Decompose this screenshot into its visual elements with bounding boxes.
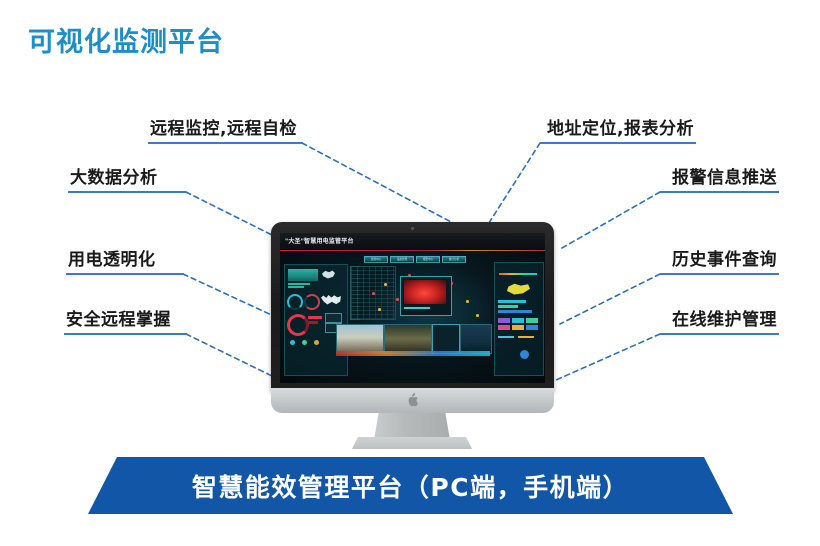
callout-left-2-rule: [68, 191, 186, 193]
right-tag-4: [498, 325, 510, 330]
callout-left-2[interactable]: 大数据分析: [68, 167, 186, 193]
map-node-1: [372, 292, 375, 295]
status-dot-amber: [314, 340, 319, 345]
right-tag-1: [498, 318, 510, 323]
callout-left-1[interactable]: 远程监控,远程自检: [148, 118, 303, 144]
right-kpi-bar-2: [498, 305, 518, 308]
donut-chart-1: [287, 294, 303, 310]
right-tag-6: [526, 325, 538, 330]
status-dot-green: [302, 340, 307, 345]
red-indicator-bar: [308, 316, 322, 319]
callout-left-3-rule: [66, 273, 184, 275]
callout-left-1-label: 远程监控,远程自检: [148, 118, 303, 142]
right-gauge-icon: [520, 350, 529, 359]
donut-chart-2: [304, 294, 320, 310]
camera-feed-4[interactable]: [460, 324, 492, 354]
callout-right-1[interactable]: 地址定位,报表分析: [540, 118, 696, 144]
thumb-tile-1: [325, 313, 342, 323]
right-tag-5: [512, 325, 524, 330]
red-indicator-bar-2: [308, 321, 318, 324]
callout-right-3[interactable]: 历史事件查询: [660, 249, 779, 275]
dashboard-header: "大圣"智慧用电监管平台: [280, 233, 545, 250]
monitor-stand-base: [352, 437, 472, 449]
callout-right-3-label: 历史事件查询: [660, 249, 779, 273]
callout-right-1-label: 地址定位,报表分析: [540, 118, 696, 142]
teal-chart-line-1: [288, 283, 310, 285]
callout-left-4[interactable]: 安全远程掌握: [64, 309, 187, 335]
map-node-10: [476, 314, 479, 317]
right-line-chart-trace: [499, 273, 537, 275]
callout-right-2-label: 报警信息推送: [660, 167, 779, 191]
callout-right-2-rule: [660, 191, 779, 193]
monitor-stand-neck: [374, 413, 450, 440]
alert-popup-text-line: [404, 307, 430, 309]
callout-left-3[interactable]: 用电透明化: [66, 249, 184, 275]
page-title: 可视化监测平台: [28, 20, 224, 59]
apple-logo: [407, 393, 419, 407]
wire-left-4: [186, 334, 272, 376]
callout-right-2[interactable]: 报警信息推送: [660, 167, 779, 193]
callout-right-4-rule: [660, 333, 779, 335]
callout-right-3-rule: [660, 273, 779, 275]
right-kpi-bar-1: [498, 300, 526, 303]
callout-right-1-rule: [540, 142, 696, 144]
map-node-8: [466, 300, 469, 303]
wire-right-4: [556, 334, 660, 380]
wire-right-2: [562, 192, 660, 248]
wire-left-3: [183, 274, 278, 318]
right-tag-2: [512, 318, 524, 323]
camera-feed-1[interactable]: [336, 324, 384, 354]
monitor-chin: [271, 388, 554, 413]
callout-right-4[interactable]: 在线维护管理: [660, 309, 779, 335]
teal-chart-line-2: [288, 286, 304, 288]
teal-chart-block: [288, 269, 318, 281]
callout-left-3-label: 用电透明化: [66, 249, 184, 273]
alert-heatmap-graphic: [404, 280, 446, 304]
donut-chart-3: [287, 314, 309, 336]
right-legend-2: [518, 336, 534, 338]
monitor-bezel: "大圣"智慧用电监管平台 监测中心 设备管理 报警中心 统计分析: [271, 222, 554, 392]
webcam-icon: [411, 227, 414, 230]
dashboard-body: 监测中心 设备管理 报警中心 统计分析: [280, 252, 545, 383]
map-node-3: [396, 298, 399, 301]
right-legend-1: [498, 336, 514, 338]
poster-canvas: 可视化监测平台 远程监控,远程自检 大数据分析 用电透明化 安全远程掌握: [0, 0, 820, 546]
map-node-2: [384, 283, 387, 286]
monitor-screen: "大圣"智慧用电监管平台 监测中心 设备管理 报警中心 统计分析: [280, 233, 545, 383]
wire-left-1: [302, 143, 470, 232]
dashboard-header-divider: [280, 250, 545, 251]
bottom-banner: 智慧能效管理平台（PC端，手机端）: [88, 457, 733, 514]
camera-feed-2[interactable]: [384, 324, 432, 354]
right-kpi-bar-3: [498, 310, 532, 313]
callout-left-4-rule: [64, 333, 187, 335]
callout-left-4-label: 安全远程掌握: [64, 309, 187, 333]
right-tag-3: [526, 318, 538, 323]
callout-left-1-rule: [148, 142, 303, 144]
callout-left-2-label: 大数据分析: [68, 167, 186, 191]
feed-strip-glow: [336, 351, 490, 356]
callout-right-4-label: 在线维护管理: [660, 309, 779, 333]
wire-right-1: [487, 143, 540, 226]
camera-feed-3[interactable]: [432, 324, 460, 354]
bottom-banner-label: 智慧能效管理平台（PC端，手机端）: [192, 468, 629, 504]
status-dot-cyan: [290, 340, 295, 345]
wire-right-3: [560, 274, 660, 324]
map-node-4: [378, 308, 381, 311]
dashboard-title: "大圣"智慧用电监管平台: [285, 236, 354, 245]
